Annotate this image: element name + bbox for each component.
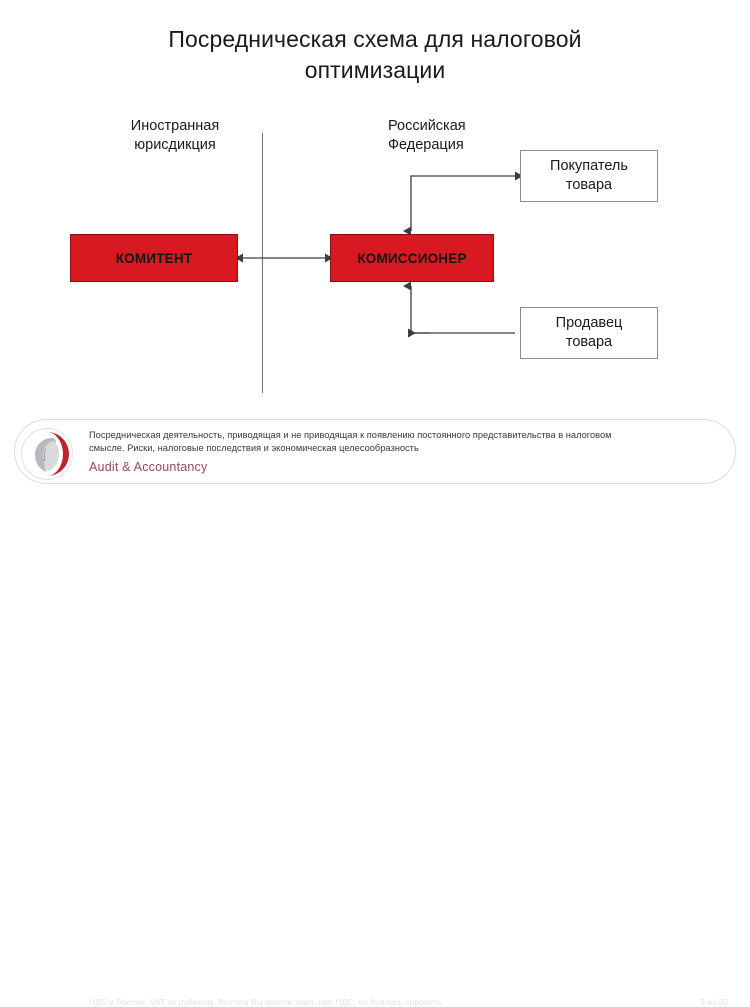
footer-description-line-2: смысле. Риски, налоговые последствия и э… bbox=[89, 442, 719, 455]
footer-brand-name: Audit & Accountancy bbox=[89, 459, 719, 475]
diagram-box-komitent[interactable]: КОМИТЕНТ bbox=[70, 234, 238, 282]
zone-label-foreign-jurisdiction: Иностранная юрисдикция bbox=[100, 117, 250, 155]
diagram-box-komitent-label: КОМИТЕНТ bbox=[116, 251, 193, 266]
bottom-bar: НДС в России. VAT за рубежом. Все что Вы… bbox=[0, 494, 750, 529]
diagram-box-seller[interactable]: Продавец товара bbox=[520, 307, 658, 359]
footer-text-block: Посредническая деятельность, приводящая … bbox=[89, 429, 719, 475]
diagram-box-buyer-label: Покупатель товара bbox=[550, 157, 628, 195]
diagram-box-buyer[interactable]: Покупатель товара bbox=[520, 150, 658, 202]
page-indicator: 3 из 20 bbox=[700, 997, 728, 1007]
classical-face-profile-logo bbox=[21, 428, 73, 480]
diagram-box-komissioner[interactable]: КОМИССИОНЕР bbox=[330, 234, 494, 282]
diagram-box-seller-label: Продавец товара bbox=[556, 314, 623, 352]
deck-title-text: НДС в России. VAT за рубежом. Все что Вы… bbox=[89, 997, 444, 1007]
jurisdiction-divider-line bbox=[262, 133, 263, 393]
footer-description-line-1: Посредническая деятельность, приводящая … bbox=[89, 429, 719, 442]
diagram-box-komissioner-label: КОМИССИОНЕР bbox=[357, 251, 466, 266]
tax-scheme-diagram: Иностранная юрисдикция Российская Федера… bbox=[0, 0, 750, 405]
